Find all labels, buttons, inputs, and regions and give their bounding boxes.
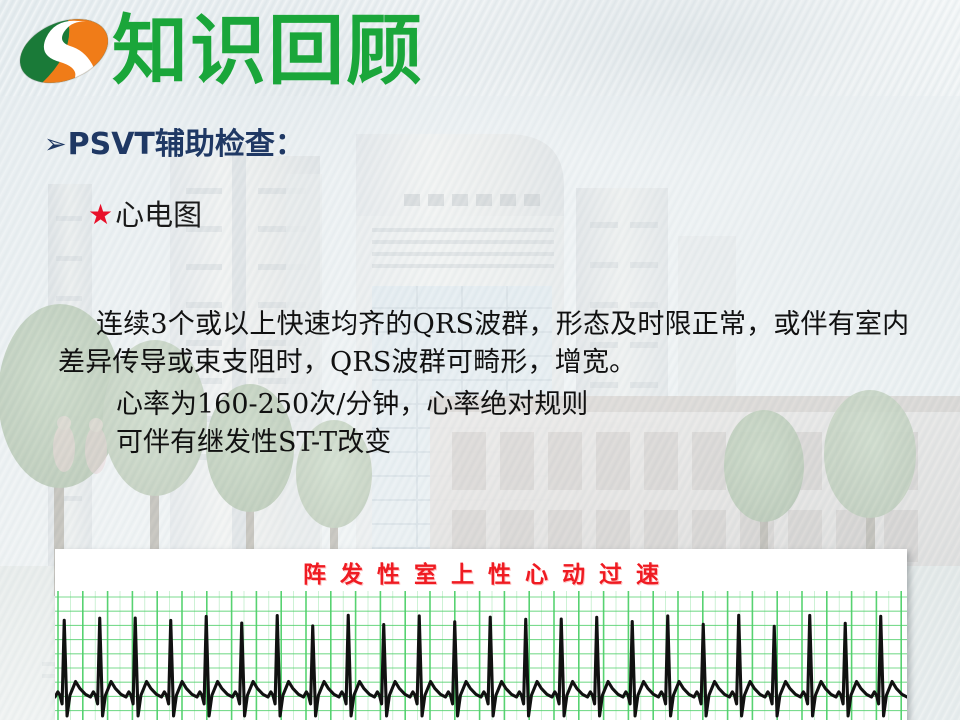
body-text-block: 连续3个或以上快速均齐的QRS波群，形态及时限正常，或伴有室内差异传导或束支阻时… xyxy=(58,306,930,462)
ecg-rhythm-strip xyxy=(55,591,907,720)
outline-level2-item: ★心电图 xyxy=(88,196,202,235)
body-line-st-t: 可伴有继发性ST-T改变 xyxy=(58,424,930,462)
s-emblem-logo xyxy=(14,12,114,90)
outline-level1-item: ➢PSVT辅助检查： xyxy=(44,125,305,166)
ecg-image-panel: 阵发性室上性心动过速 xyxy=(55,549,907,720)
star-bullet-icon: ★ xyxy=(88,196,113,234)
page-title: 知识回顾 xyxy=(112,2,424,100)
arrow-bullet-icon: ➢ xyxy=(44,125,67,165)
outline-level2-label: 心电图 xyxy=(115,198,202,232)
slide-canvas: 知识回顾 ➢PSVT辅助检查： ★心电图 连续3个或以上快速均齐的QRS波群，形… xyxy=(0,0,960,720)
ecg-caption: 阵发性室上性心动过速 xyxy=(55,555,907,589)
body-paragraph: 连续3个或以上快速均齐的QRS波群，形态及时限正常，或伴有室内差异传导或束支阻时… xyxy=(58,306,930,382)
outline-level1-label: PSVT辅助检查： xyxy=(68,127,305,162)
body-line-heart-rate: 心率为160-250次/分钟，心率绝对规则 xyxy=(58,386,930,424)
